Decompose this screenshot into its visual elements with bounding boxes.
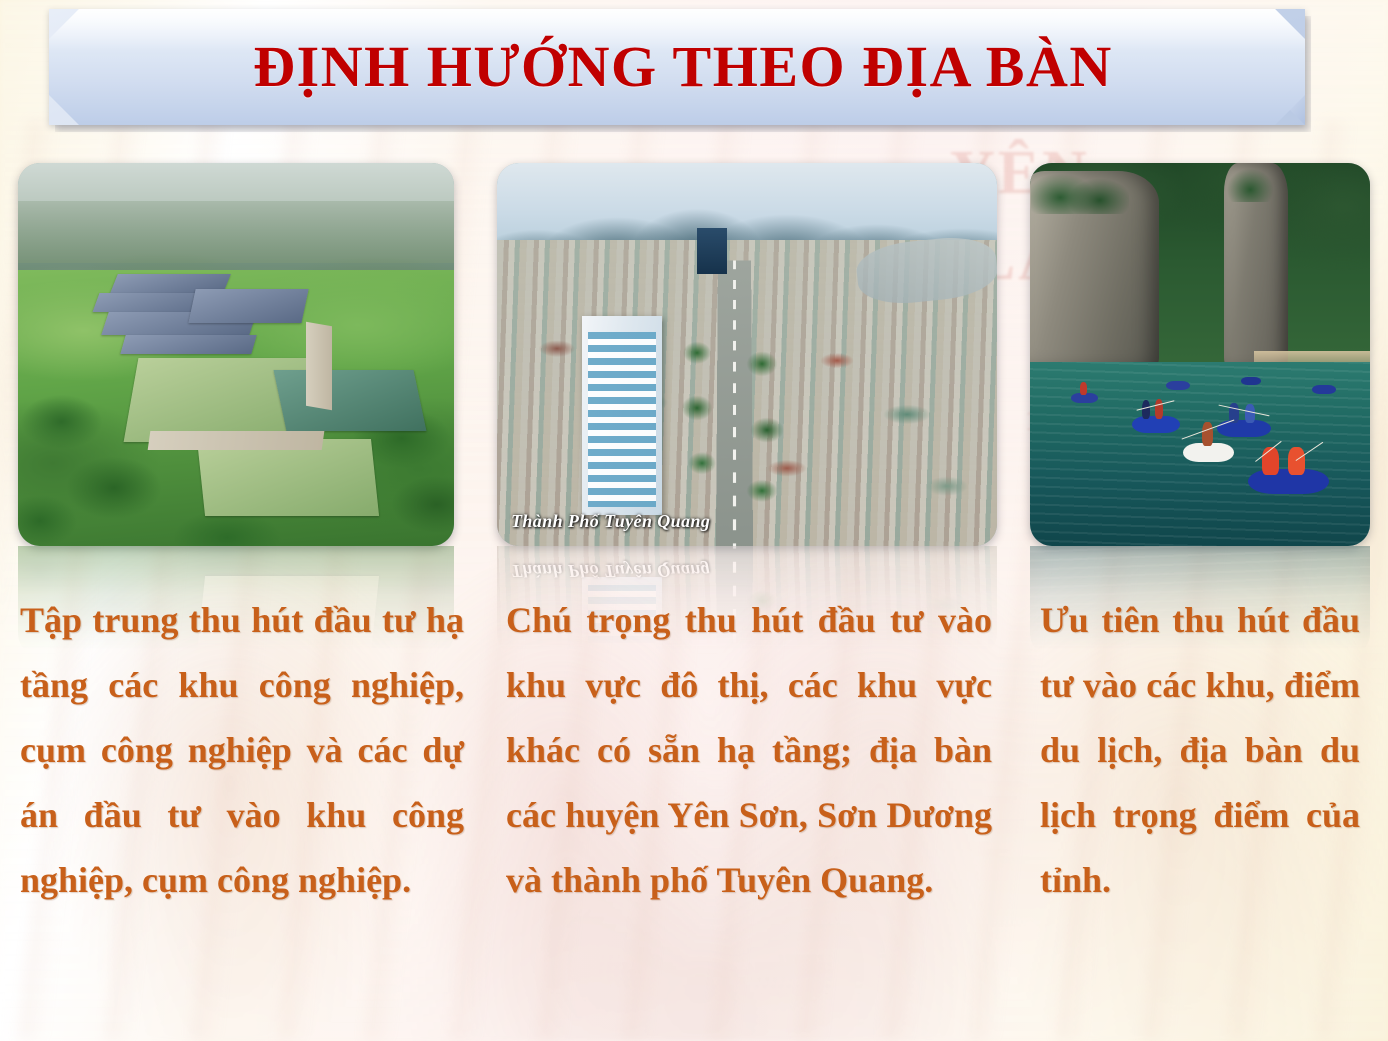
karst-rock-pillar [1224, 163, 1289, 370]
kayak [1241, 377, 1261, 385]
paddler [1080, 382, 1087, 395]
title-banner: ĐỊNH HƯỚNG THEO ĐỊA BÀN [49, 9, 1305, 125]
slide-canvas: YÊN LÀ 10 ĐỊNH HƯỚNG THEO ĐỊA BÀN [0, 0, 1388, 1041]
industrial-park-aerial-photo [18, 163, 454, 546]
paddler [1142, 400, 1151, 419]
kayak [1248, 469, 1330, 494]
na-hang-lake-kayaking-photo [1030, 163, 1370, 546]
white-hotel-tower [582, 316, 662, 515]
photo-caption: Thành Phố Tuyên Quang [511, 511, 710, 532]
yard-road [147, 431, 324, 450]
kayak [1183, 443, 1234, 462]
factory-roof [189, 289, 310, 323]
tuyen-quang-city-photo: Thành Phố Tuyên Quang [497, 163, 997, 546]
dark-highrise [697, 228, 727, 274]
factory-roof [197, 439, 379, 516]
paddler [1202, 422, 1212, 446]
yard-road [306, 322, 332, 411]
photo-1-content [18, 163, 454, 546]
kayak [1071, 393, 1098, 403]
avenue-trees [497, 270, 997, 546]
photo-3-content [1030, 163, 1370, 546]
slide-title: ĐỊNH HƯỚNG THEO ĐỊA BÀN [49, 9, 1305, 125]
photo-2-content: Thành Phố Tuyên Quang [497, 163, 997, 546]
kayak [1166, 381, 1190, 389]
kayak [1132, 416, 1180, 433]
karst-rock-left [1030, 171, 1159, 370]
paddler [1245, 404, 1255, 423]
kayak [1312, 385, 1336, 394]
column-1-text: Tập trung thu hút đầu tư hạ tầng các khu… [20, 588, 464, 913]
factory-roof [120, 335, 256, 354]
column-3-text: Ưu tiên thu hút đầu tư vào các khu, điểm… [1040, 588, 1360, 913]
column-2-text: Chú trọng thu hút đầu tư vào khu vực đô … [506, 588, 992, 913]
paddler [1262, 447, 1278, 475]
factory-roof [273, 370, 426, 431]
